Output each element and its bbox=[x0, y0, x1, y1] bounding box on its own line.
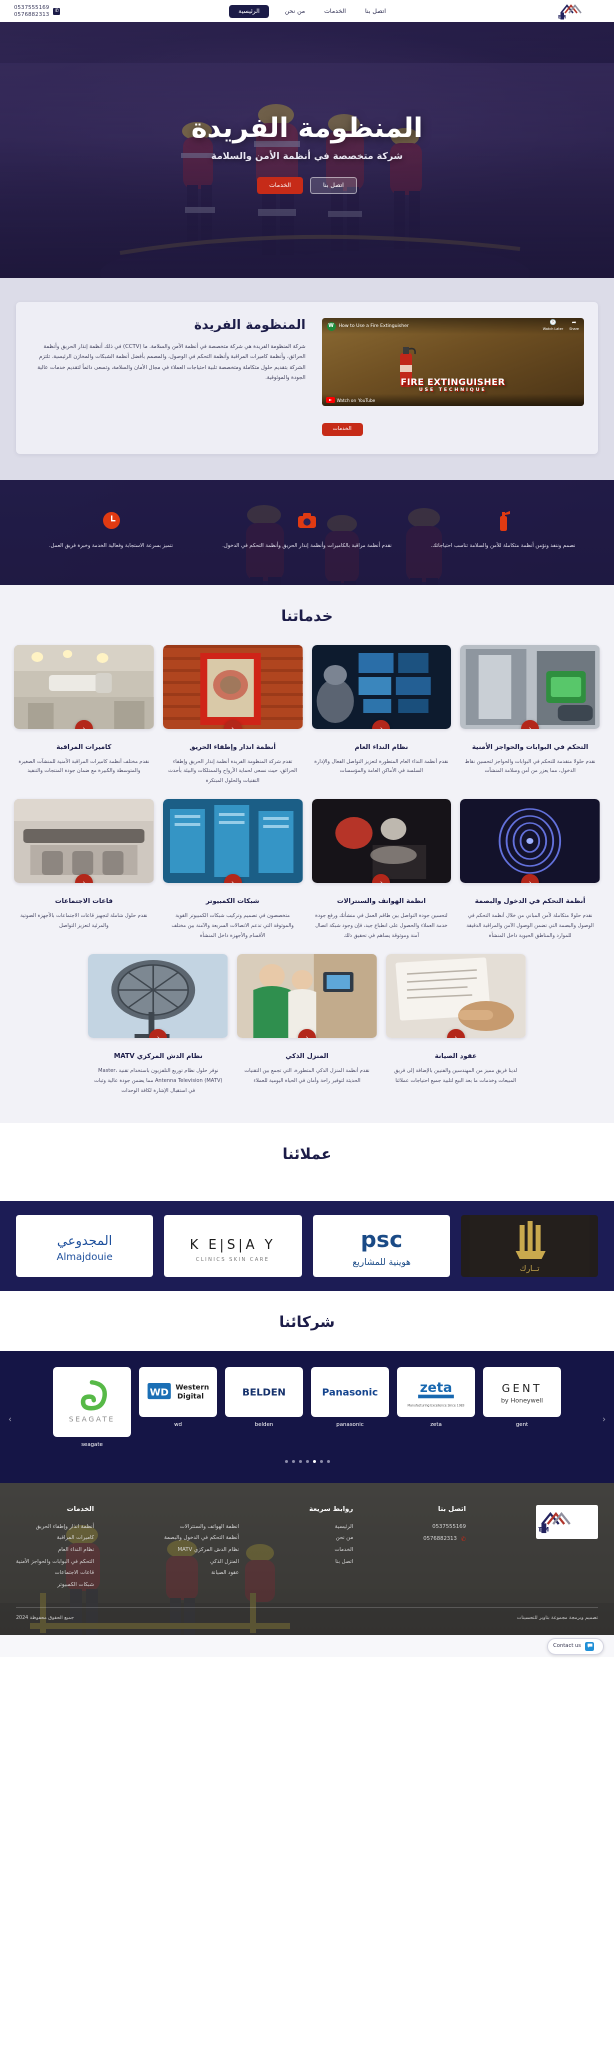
video-title: How to Use a Fire Extinguisher bbox=[339, 324, 409, 329]
footer-phone-2: 0576882313 bbox=[423, 1534, 457, 1546]
psc-logo-icon: psc هوينية للمشاريع bbox=[313, 1215, 450, 1277]
services-title: خدماتنا bbox=[14, 607, 600, 625]
share-icon: ➦ bbox=[572, 321, 577, 327]
gent-logo-icon: GENT by Honeywell bbox=[488, 1372, 556, 1412]
svg-text:BELDEN: BELDEN bbox=[242, 1387, 286, 1398]
svg-text:NIQUE SYSTEM: NIQUE SYSTEM bbox=[558, 14, 566, 20]
service-thumbnail-smart-home[interactable]: ‹ bbox=[237, 954, 377, 1038]
header-phone-group: ✆ 0537555169 0576882313 bbox=[14, 5, 60, 18]
phone-icon: ✆ bbox=[461, 1533, 466, 1546]
share-button[interactable]: ➦ Share bbox=[569, 321, 579, 332]
chat-label: Contact us bbox=[553, 1643, 581, 1649]
service-card[interactable]: ‹ التحكم في البوابات والحواجز الأمنية نق… bbox=[460, 645, 600, 788]
server-network-photo bbox=[163, 799, 303, 883]
service-title: انظمة الهواتف والسنترالات bbox=[314, 897, 450, 907]
carousel-dot[interactable] bbox=[327, 1460, 330, 1463]
footer-service-item[interactable]: التحكم في البوابات والحواجز الأمنية bbox=[16, 1557, 94, 1569]
service-card[interactable]: ‹ عقود الصيانة لدينا فريق مميز من المهند… bbox=[386, 954, 526, 1097]
service-desc: نقدم أنظمة المنزل الذكي المتطورة، التي ت… bbox=[239, 1067, 375, 1087]
fire-hose-cabinet-photo bbox=[163, 645, 303, 729]
chat-widget-bar: Contact us bbox=[0, 1635, 614, 1657]
service-thumbnail-cctv[interactable]: ‹ bbox=[14, 645, 154, 729]
carousel-dot-active[interactable] bbox=[313, 1460, 316, 1463]
footer-phone-2-row[interactable]: ✆ 0576882313 bbox=[423, 1533, 466, 1546]
svg-text:هوينية للمشاريع: هوينية للمشاريع bbox=[352, 1258, 411, 1268]
service-title: كاميرات المراقبة bbox=[16, 743, 152, 753]
feature-text-surveillance: نقدم أنظمة مراقبة بالكاميرات وأنظمة إنذا… bbox=[214, 541, 400, 551]
footer-contact-heading: اتصل بنا bbox=[423, 1505, 466, 1513]
western-digital-logo-icon: WD Western Digital bbox=[144, 1372, 212, 1412]
svg-text:Almajdouie: Almajdouie bbox=[57, 1252, 113, 1263]
footer-service2-item[interactable]: أنظمة التحكم في الدخول والبصمة bbox=[164, 1533, 239, 1545]
site-logo[interactable]: NIQUE SYSTEM bbox=[558, 3, 600, 20]
footer-service-item[interactable]: أنظمة انذار وإطفاء الحريق bbox=[16, 1522, 94, 1534]
service-title: نظام الدش المركزي MATV bbox=[90, 1052, 226, 1062]
footer-logo[interactable]: NIQUE SYSTEM bbox=[536, 1505, 598, 1539]
footer-quick-links-column: روابط سريعة الرئيسية من نحن الخدمات اتصل… bbox=[309, 1505, 353, 1592]
channel-avatar-icon: W bbox=[327, 322, 336, 331]
service-title: شبكات الكمبيوتر bbox=[165, 897, 301, 907]
service-card[interactable]: ‹ كاميرات المراقبة نقدم مختلف أنظمة كامي… bbox=[14, 645, 154, 788]
services-section: خدماتنا ‹ التحكم في البوابات والحواجز ال… bbox=[0, 585, 614, 1123]
service-desc: لدينا فريق مميز من المهندسين والفنيين با… bbox=[388, 1067, 524, 1087]
service-desc: نقدم حلول شاملة لتجهيز قاعات الاجتماعات … bbox=[16, 912, 152, 932]
service-desc: نقدم أنظمة النداء العام المتطورة لتعزيز … bbox=[314, 758, 450, 778]
service-thumbnail-telephony[interactable]: ‹ bbox=[312, 799, 452, 883]
service-desc: نقدم حلولا متكاملة لأمن المباني من خلال … bbox=[462, 912, 598, 942]
carousel-dot[interactable] bbox=[285, 1460, 288, 1463]
nav-item-about[interactable]: من نحن bbox=[282, 6, 308, 17]
fingerprint-scan-photo bbox=[460, 799, 600, 883]
carousel-dot[interactable] bbox=[306, 1460, 309, 1463]
about-video-wrap: W How to Use a Fire Extinguisher 🕐 Watch… bbox=[322, 318, 584, 436]
feature-text-fire-safety: نصمم وننفذ ونؤمن أنظمة متكاملة للأمن وال… bbox=[410, 541, 596, 551]
client-logo-tarik[interactable]: تــارك bbox=[461, 1215, 598, 1277]
footer-service-item[interactable]: نظام النداء العام bbox=[16, 1545, 94, 1557]
feature-item-response: نتميز بسرعة الاستجابة وفعالية الخدمة وخب… bbox=[18, 510, 204, 551]
carousel-dot[interactable] bbox=[320, 1460, 323, 1463]
panasonic-logo-icon: Panasonic bbox=[316, 1372, 384, 1412]
fire-extinguisher-video[interactable]: W How to Use a Fire Extinguisher 🕐 Watch… bbox=[322, 318, 584, 406]
footer-quick-heading: روابط سريعة bbox=[309, 1505, 353, 1513]
svg-text:تــارك: تــارك bbox=[519, 1264, 539, 1273]
service-thumbnail-maintenance[interactable]: ‹ bbox=[386, 954, 526, 1038]
gate-access-control-photo bbox=[460, 645, 600, 729]
service-card[interactable]: ‹ شبكات الكمبيوتر متخصصون في تصميم وتركي… bbox=[163, 799, 303, 942]
feature-item-fire-safety: نصمم وننفذ ونؤمن أنظمة متكاملة للأمن وال… bbox=[410, 510, 596, 551]
hero-buttons: اتصل بنا الخدمات bbox=[257, 177, 357, 194]
footer-link-contact[interactable]: اتصل بنا bbox=[309, 1557, 353, 1569]
service-title: عقود الصيانة bbox=[388, 1052, 524, 1062]
svg-text:Western: Western bbox=[176, 1382, 210, 1391]
service-desc: نقدم حلولا متقدمة للتحكم في البوابات وال… bbox=[462, 758, 598, 778]
partner-item[interactable]: zeta Manufacturing Excellence Since 1983… bbox=[397, 1367, 475, 1428]
svg-text:WD: WD bbox=[150, 1387, 169, 1398]
youtube-icon bbox=[326, 397, 335, 403]
footer-service-item[interactable]: قاعات الاجتماعات bbox=[16, 1568, 94, 1580]
site-footer: NIQUE SYSTEM اتصل بنا 0537555169 ✆ 05768… bbox=[0, 1483, 614, 1636]
service-desc: نوفر حلول نظام توزيع التلفزيون باستخدام … bbox=[90, 1067, 226, 1097]
header-phone-1[interactable]: 0537555169 bbox=[14, 5, 49, 11]
feature-text-response: نتميز بسرعة الاستجابة وفعالية الخدمة وخب… bbox=[18, 541, 204, 551]
service-title: التحكم في البوابات والحواجز الأمنية bbox=[462, 743, 598, 753]
clients-section: عملائنا bbox=[0, 1123, 614, 1201]
service-thumbnail-public-address[interactable]: ‹ bbox=[312, 645, 452, 729]
footer-contact-column: اتصل بنا 0537555169 ✆ 0576882313 bbox=[423, 1505, 466, 1592]
services-row-3: ‹ عقود الصيانة لدينا فريق مميز من المهند… bbox=[14, 954, 600, 1097]
partner-logo-panasonic: Panasonic bbox=[311, 1367, 389, 1417]
partner-item[interactable]: WD Western Digital wd bbox=[139, 1367, 217, 1428]
footer-service-item[interactable]: شبكات الكمبيوتر bbox=[16, 1580, 94, 1592]
about-paragraph: شركة المنظومة الفريدة هي شركة متخصصة في … bbox=[30, 342, 306, 383]
svg-text:Panasonic: Panasonic bbox=[322, 1387, 378, 1398]
service-desc: نقدم مختلف أنظمة كاميرات المراقبة الأمني… bbox=[16, 758, 152, 778]
partner-label: zeta bbox=[397, 1422, 475, 1428]
partner-logo-belden: BELDEN bbox=[225, 1367, 303, 1417]
about-title: المنظومة الفريدة bbox=[30, 318, 306, 333]
service-desc: لتحسين جودة التواصل بين طاقم العمل في من… bbox=[314, 912, 450, 942]
svg-text:SEAGATE: SEAGATE bbox=[69, 1414, 115, 1423]
svg-text:K E|S|A Y: K E|S|A Y bbox=[190, 1238, 276, 1253]
partner-item[interactable]: BELDEN belden bbox=[225, 1367, 303, 1428]
footer-link-services[interactable]: الخدمات bbox=[309, 1545, 353, 1557]
footer-service2-item[interactable]: عقود الصيانة bbox=[164, 1568, 239, 1580]
almajdouie-logo-icon: المجدوعي Almajdouie bbox=[16, 1215, 153, 1277]
service-thumbnail-matv[interactable]: ‹ bbox=[88, 954, 228, 1038]
partner-item[interactable]: SEAGATE seagate bbox=[53, 1367, 131, 1448]
hero-services-button[interactable]: الخدمات bbox=[257, 177, 303, 194]
footer-services-heading: الخدمات bbox=[16, 1505, 94, 1513]
client-logo-almajdouie[interactable]: المجدوعي Almajdouie bbox=[16, 1215, 153, 1277]
carousel-prev-icon[interactable]: ‹ bbox=[598, 1414, 610, 1426]
service-title: أنظمة انذار وإطفاء الحريق bbox=[165, 743, 301, 753]
about-services-button[interactable]: الخدمات bbox=[322, 423, 363, 436]
watch-on-youtube-button[interactable]: Watch on YouTube bbox=[326, 397, 376, 403]
carousel-dot[interactable] bbox=[292, 1460, 295, 1463]
partner-label: panasonic bbox=[311, 1422, 389, 1428]
hero-subtitle: شركة متخصصة في أنظمة الأمن والسلامة bbox=[211, 151, 403, 162]
service-card[interactable]: ‹ نظام الدش المركزي MATV نوفر حلول نظام … bbox=[88, 954, 228, 1097]
watch-later-button[interactable]: 🕐 Watch Later bbox=[543, 321, 563, 332]
svg-text:psc: psc bbox=[360, 1228, 402, 1253]
partner-logo-zeta: zeta Manufacturing Excellence Since 1983 bbox=[397, 1367, 475, 1417]
svg-text:GENT: GENT bbox=[502, 1382, 542, 1395]
svg-text:Manufacturing Excellence Since: Manufacturing Excellence Since 1983 bbox=[408, 1403, 465, 1407]
partner-item[interactable]: Panasonic panasonic bbox=[311, 1367, 389, 1428]
clock-icon bbox=[18, 510, 204, 532]
footer-bottom-bar: تصميم وبرمجة مجموعة بتاوير للتحسينات جمي… bbox=[16, 1607, 598, 1621]
footer-link-home[interactable]: الرئيسية bbox=[309, 1522, 353, 1534]
touch-interface-photo bbox=[312, 799, 452, 883]
nav-item-home[interactable]: الرئيسية bbox=[229, 5, 268, 18]
watch-later-label: Watch Later bbox=[543, 327, 563, 331]
video-caption: FIRE EXTINGUISHER USE TECHNIQUE bbox=[322, 378, 584, 393]
chat-icon bbox=[585, 1642, 594, 1651]
service-thumbnail-fire-alarm[interactable]: ‹ bbox=[163, 645, 303, 729]
partner-logo-seagate: SEAGATE bbox=[53, 1367, 131, 1437]
service-desc: تقدم شركة المنظومة الفريدة أنظمة إنذار ا… bbox=[165, 758, 301, 788]
partner-label: wd bbox=[139, 1422, 217, 1428]
services-row-1: ‹ التحكم في البوابات والحواجز الأمنية نق… bbox=[14, 645, 600, 788]
contact-us-chat-button[interactable]: Contact us bbox=[547, 1638, 604, 1655]
footer-phone-1[interactable]: 0537555169 bbox=[423, 1522, 466, 1534]
unique-system-logo-icon: NIQUE SYSTEM bbox=[538, 1509, 596, 1535]
cctv-camera-photo bbox=[14, 645, 154, 729]
service-title: نظام النداء العام bbox=[314, 743, 450, 753]
features-section: نصمم وننفذ ونؤمن أنظمة متكاملة للأمن وال… bbox=[0, 480, 614, 585]
seagate-logo-icon: SEAGATE bbox=[58, 1372, 126, 1432]
header-phone-2[interactable]: 0576882313 bbox=[14, 12, 49, 18]
footer-credit[interactable]: تصميم وبرمجة مجموعة بتاوير للتحسينات bbox=[517, 1616, 598, 1621]
service-title: أنظمة التحكم في الدخول والبصمة bbox=[462, 897, 598, 907]
nav-item-services[interactable]: الخدمات bbox=[321, 6, 349, 17]
hero-contact-button[interactable]: اتصل بنا bbox=[310, 177, 357, 194]
maintenance-contract-photo bbox=[386, 954, 526, 1038]
svg-text:NIQUE SYSTEM: NIQUE SYSTEM bbox=[538, 1526, 549, 1533]
service-card[interactable]: ‹ أنظمة انذار وإطفاء الحريق تقدم شركة ال… bbox=[163, 645, 303, 788]
clock-icon: 🕐 bbox=[550, 321, 557, 327]
service-title: المنزل الذكي bbox=[239, 1052, 375, 1062]
footer-service2-item[interactable]: المنزل الذكي bbox=[164, 1557, 239, 1569]
nav-item-contact[interactable]: اتصل بنا bbox=[362, 6, 389, 17]
camera-icon bbox=[214, 510, 400, 532]
hero-title: المنظومة الفريدة bbox=[191, 113, 423, 144]
services-row-2: ‹ أنظمة التحكم في الدخول والبصمة نقدم حل… bbox=[14, 799, 600, 942]
footer-copyright: جميع الحقوق محفوظة 2024 bbox=[16, 1616, 74, 1621]
partners-title: شركائنا bbox=[0, 1313, 614, 1331]
footer-service2-item[interactable]: نظام الدش المركزي MATV bbox=[164, 1545, 239, 1557]
kesay-logo-icon: K E|S|A Y CLINICS SKIN CARE bbox=[164, 1215, 301, 1277]
service-title: قاعات الاجتماعات bbox=[16, 897, 152, 907]
meeting-room-photo bbox=[14, 799, 154, 883]
partner-logo-gent: GENT by Honeywell bbox=[483, 1367, 561, 1417]
partner-label: gent bbox=[483, 1422, 561, 1428]
carousel-dot[interactable] bbox=[299, 1460, 302, 1463]
tarik-logo-icon: تــارك bbox=[461, 1215, 598, 1277]
partner-logo-wd: WD Western Digital bbox=[139, 1367, 217, 1417]
footer-service-item[interactable]: كاميرات المراقبة bbox=[16, 1533, 94, 1545]
footer-link-about[interactable]: من نحن bbox=[309, 1533, 353, 1545]
clients-logo-strip: تــارك psc هوينية للمشاريع K E|S|A Y CLI… bbox=[0, 1201, 614, 1291]
footer-service2-item[interactable]: انظمة الهواتف والسنترالات bbox=[164, 1522, 239, 1534]
service-card[interactable]: ‹ قاعات الاجتماعات نقدم حلول شاملة لتجهي… bbox=[14, 799, 154, 942]
svg-text:zeta: zeta bbox=[420, 1381, 452, 1396]
service-card[interactable]: ‹ نظام النداء العام نقدم أنظمة النداء ال… bbox=[312, 645, 452, 788]
svg-text:by Honeywell: by Honeywell bbox=[501, 1397, 543, 1404]
control-room-monitors-photo bbox=[312, 645, 452, 729]
service-thumbnail-fingerprint[interactable]: ‹ bbox=[460, 799, 600, 883]
client-logo-kesay[interactable]: K E|S|A Y CLINICS SKIN CARE bbox=[164, 1215, 301, 1277]
satellite-dish-photo bbox=[88, 954, 228, 1038]
zeta-logo-icon: zeta Manufacturing Excellence Since 1983 bbox=[402, 1372, 470, 1412]
carousel-next-icon[interactable]: › bbox=[4, 1414, 16, 1426]
fire-extinguisher-icon bbox=[410, 510, 596, 532]
main-navigation: اتصل بنا الخدمات من نحن الرئيسية bbox=[229, 5, 389, 18]
svg-text:المجدوعي: المجدوعي bbox=[57, 1234, 112, 1249]
carousel-dots bbox=[12, 1448, 602, 1471]
svg-text:Digital: Digital bbox=[177, 1391, 204, 1400]
share-label: Share bbox=[569, 327, 579, 331]
top-header: NIQUE SYSTEM اتصل بنا الخدمات من نحن الر… bbox=[0, 0, 614, 22]
service-thumbnail-gate-control[interactable]: ‹ bbox=[460, 645, 600, 729]
svg-text:CLINICS SKIN CARE: CLINICS SKIN CARE bbox=[196, 1257, 270, 1263]
hero-section: المنظومة الفريدة شركة متخصصة في أنظمة ال… bbox=[0, 22, 614, 278]
service-thumbnail-networks[interactable]: ‹ bbox=[163, 799, 303, 883]
partner-item[interactable]: GENT by Honeywell gent bbox=[483, 1367, 561, 1428]
service-card[interactable]: ‹ أنظمة التحكم في الدخول والبصمة نقدم حل… bbox=[460, 799, 600, 942]
unique-system-logo-icon: NIQUE SYSTEM bbox=[558, 3, 600, 20]
youtube-label: YouTube bbox=[358, 398, 375, 403]
footer-services-column-1: الخدمات أنظمة انذار وإطفاء الحريق كاميرا… bbox=[16, 1505, 94, 1592]
smart-home-photo bbox=[237, 954, 377, 1038]
service-desc: متخصصون في تصميم وتركيب شبكات الكمبيوتر … bbox=[165, 912, 301, 942]
service-card[interactable]: ‹ انظمة الهواتف والسنترالات لتحسين جودة … bbox=[312, 799, 452, 942]
feature-item-surveillance: نقدم أنظمة مراقبة بالكاميرات وأنظمة إنذا… bbox=[214, 510, 400, 551]
clients-title: عملائنا bbox=[0, 1145, 614, 1163]
belden-logo-icon: BELDEN bbox=[230, 1372, 298, 1412]
footer-services-column-2: . انظمة الهواتف والسنترالات أنظمة التحكم… bbox=[164, 1505, 239, 1592]
phone-icon: ✆ bbox=[53, 8, 60, 15]
client-logo-psc[interactable]: psc هوينية للمشاريع bbox=[313, 1215, 450, 1277]
about-section: W How to Use a Fire Extinguisher 🕐 Watch… bbox=[0, 278, 614, 480]
partner-label: belden bbox=[225, 1422, 303, 1428]
partner-label: seagate bbox=[53, 1442, 131, 1448]
partners-section: شركائنا bbox=[0, 1291, 614, 1331]
watch-on-label: Watch on bbox=[337, 398, 357, 403]
service-card[interactable]: ‹ المنزل الذكي نقدم أنظمة المنزل الذكي ا… bbox=[237, 954, 377, 1097]
service-thumbnail-meeting-rooms[interactable]: ‹ bbox=[14, 799, 154, 883]
partners-carousel: ‹ › GENT by Honeywell gent zeta Manufact… bbox=[0, 1351, 614, 1483]
